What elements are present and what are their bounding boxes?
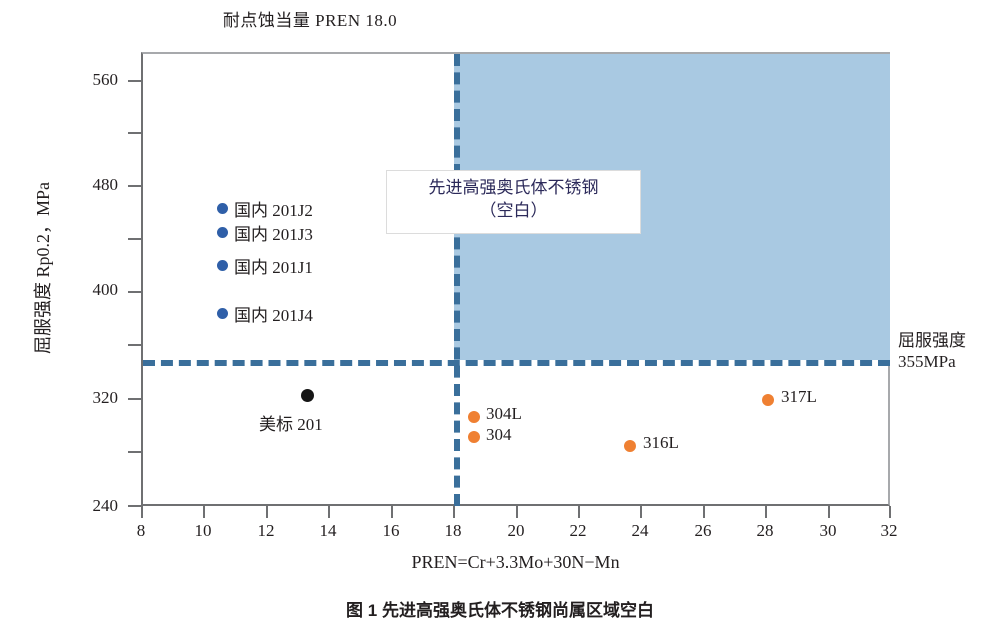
- y-majortick-480: [128, 185, 141, 187]
- x-ticklabel-20: 20: [486, 521, 546, 541]
- y-minortick-520: [128, 132, 141, 134]
- x-ticklabel-16: 16: [361, 521, 421, 541]
- x-ticklabel-22: 22: [548, 521, 608, 541]
- datalabel-317L: 317L: [781, 387, 817, 407]
- x-ticklabel-14: 14: [298, 521, 358, 541]
- x-tick-16: [391, 506, 393, 518]
- x-ticklabel-30: 30: [798, 521, 858, 541]
- datapoint-317L[interactable]: [762, 394, 774, 406]
- x-tick-24: [640, 506, 642, 518]
- y-majortick-240: [128, 505, 141, 507]
- x-tick-28: [765, 506, 767, 518]
- blank-region-annotation: 先进高强奥氏体不锈钢 （空白）: [386, 170, 641, 234]
- yield-355-dashed-line: [143, 360, 890, 366]
- y-majortick-560: [128, 80, 141, 82]
- datapoint-us-201[interactable]: [301, 389, 314, 402]
- datapoint-316L[interactable]: [624, 440, 636, 452]
- x-tick-8: [141, 506, 143, 518]
- pren-18-dashed-line: [454, 54, 460, 506]
- y-tick-560: 560: [58, 70, 118, 90]
- y-majortick-320: [128, 398, 141, 400]
- x-tick-20: [516, 506, 518, 518]
- y-tick-400: 400: [58, 280, 118, 300]
- datalabel-201J2: 国内 201J2: [234, 196, 313, 221]
- y-majortick-400: [128, 291, 141, 293]
- x-tick-22: [578, 506, 580, 518]
- datalabel-304: 304: [486, 425, 512, 445]
- datapoint-304[interactable]: [468, 431, 480, 443]
- y-minortick-280: [128, 451, 141, 453]
- x-ticklabel-10: 10: [173, 521, 233, 541]
- x-axis-title: PREN=Cr+3.3Mo+30N−Mn: [141, 552, 890, 573]
- x-tick-18: [453, 506, 455, 518]
- x-tick-10: [203, 506, 205, 518]
- y-tick-320: 320: [58, 388, 118, 408]
- datapoint-201J1[interactable]: [217, 260, 228, 271]
- datalabel-304L: 304L: [486, 404, 522, 424]
- datapoint-304L[interactable]: [468, 411, 480, 423]
- x-tick-32: [889, 506, 891, 518]
- x-ticklabel-18: 18: [423, 521, 483, 541]
- x-tick-30: [828, 506, 830, 518]
- datalabel-us-201: 美标 201: [259, 410, 323, 435]
- annotation-line-1: 先进高强奥氏体不锈钢: [401, 177, 626, 200]
- y-tick-480: 480: [58, 175, 118, 195]
- datapoint-201J4[interactable]: [217, 308, 228, 319]
- datalabel-201J1: 国内 201J1: [234, 253, 313, 278]
- plot-area: 先进高强奥氏体不锈钢 （空白） 国内 201J2 国内 201J3 国内 201…: [141, 52, 890, 506]
- x-ticklabel-26: 26: [673, 521, 733, 541]
- yield-strength-side-label-line2: 355MPa: [898, 351, 966, 372]
- datapoint-201J2[interactable]: [217, 203, 228, 214]
- x-ticklabel-28: 28: [735, 521, 795, 541]
- annotation-line-2: （空白）: [401, 200, 626, 223]
- x-ticklabel-24: 24: [610, 521, 670, 541]
- y-minortick-440: [128, 238, 141, 240]
- yield-strength-side-label: 屈服强度 355MPa: [898, 330, 966, 373]
- x-tick-14: [328, 506, 330, 518]
- datalabel-316L: 316L: [643, 433, 679, 453]
- y-axis-title: 屈服强度 Rp0.2，MPa: [29, 138, 55, 398]
- y-tick-240: 240: [58, 496, 118, 516]
- datalabel-201J3: 国内 201J3: [234, 220, 313, 245]
- y-minortick-360: [128, 344, 141, 346]
- figure-root: 耐点蚀当量 PREN 18.0 屈服强度 Rp0.2，MPa 560 480 4…: [0, 0, 1000, 636]
- x-ticklabel-8: 8: [111, 521, 171, 541]
- plot-inner: 先进高强奥氏体不锈钢 （空白） 国内 201J2 国内 201J3 国内 201…: [143, 54, 888, 504]
- figure-caption: 图 1 先进高强奥氏体不锈钢尚属区域空白: [0, 596, 1000, 621]
- x-ticklabel-32: 32: [859, 521, 919, 541]
- yield-strength-side-label-line1: 屈服强度: [898, 330, 966, 351]
- x-tick-12: [266, 506, 268, 518]
- datalabel-201J4: 国内 201J4: [234, 301, 313, 326]
- x-tick-26: [703, 506, 705, 518]
- datapoint-201J3[interactable]: [217, 227, 228, 238]
- x-ticklabel-12: 12: [236, 521, 296, 541]
- pren-threshold-title: 耐点蚀当量 PREN 18.0: [0, 6, 620, 31]
